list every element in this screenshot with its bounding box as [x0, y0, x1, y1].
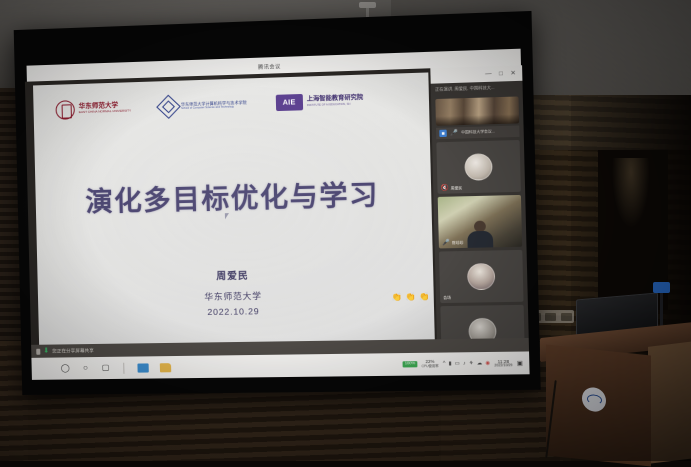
socket-outlet-icon [545, 313, 556, 321]
battery-status[interactable]: 100% [403, 361, 418, 367]
shared-screen-content: 华东师范大学 EAST CHINA NORMAL UNIVERSITY 华东师范… [25, 65, 530, 380]
participant-card[interactable]: 🎤 陈珍珍 [438, 195, 522, 249]
slide-title: 演化多目标优化与学习 [35, 171, 431, 220]
share-indicator-icon [36, 348, 40, 354]
logo-school-of-cs: 华东师范大学计算机科学与技术学院 School of Computer Scie… [159, 95, 247, 115]
emblem-arc [587, 394, 602, 406]
podium-side-panel [648, 341, 691, 464]
participant-label: 会场 [443, 296, 451, 301]
cpu-label: CPU使用率 [421, 365, 438, 369]
figure-body [467, 231, 493, 248]
volume-icon[interactable]: ♪ [463, 361, 466, 366]
logo-ecnu: 华东师范大学 EAST CHINA NORMAL UNIVERSITY [55, 98, 131, 119]
meeting-status-line: 正在演讲, 周爱民, 中国科技大... [431, 81, 523, 97]
microphone-icon [653, 282, 670, 293]
microphone-muted-icon[interactable]: 🔇 [441, 185, 449, 191]
participant-name: 中国科技大学会议... [461, 129, 495, 135]
podium-front-panel [546, 344, 651, 466]
participant-card[interactable]: 🔇 周爱民 [436, 140, 520, 194]
taskbar-app-file-explorer[interactable] [160, 363, 171, 372]
participant-row[interactable]: ■ 🎤 中国科技大学会议... [436, 125, 519, 139]
participant-video-tile-hall[interactable] [435, 96, 519, 125]
cortana-icon[interactable]: ○ [81, 364, 90, 373]
participant-webcam-figure [465, 220, 496, 248]
meeting-app-title: 腾讯会议 [258, 63, 281, 71]
ecnu-seal-icon [55, 100, 75, 120]
participant-name: 会场 [443, 296, 451, 301]
logo-aie-en: INSTITUTE OF AI EDUCATION, SH [307, 102, 364, 107]
logo-school-of-cs-en: School of Computer Science and Technolog… [181, 105, 247, 110]
system-tray: 100% 22% CPU使用率 ^ ▮ ▭ ♪ ⚘ ☁ ◉ [403, 358, 530, 369]
task-view-icon[interactable]: ▢ [101, 363, 110, 372]
mouse-cursor-icon [225, 213, 232, 219]
microphone-on-icon[interactable]: 🎤 [450, 130, 458, 136]
conference-room: 腾讯会议 华东师范大学 EAST CHINA NORMAL UNIVERSITY [0, 0, 691, 461]
search-icon[interactable]: ◯ [61, 364, 70, 373]
participant-badge-icon: ■ [439, 130, 447, 137]
aie-mark-icon: AIE [275, 94, 302, 111]
podium [540, 330, 691, 461]
clock-date: 2022/10/29 [494, 364, 512, 368]
logo-aie: AIE 上海智能教育研究院 INSTITUTE OF AI EDUCATION,… [275, 92, 363, 111]
slide-logo-row: 华东师范大学 EAST CHINA NORMAL UNIVERSITY 华东师范… [55, 86, 395, 123]
participant-name: 周爱民 [451, 185, 463, 190]
doorway-light [612, 158, 650, 228]
slide-byline: 周爱民 华东师范大学 2022.10.29 [37, 264, 434, 320]
logo-ecnu-en: EAST CHINA NORMAL UNIVERSITY [79, 109, 131, 114]
slide-affiliation: 华东师范大学 [38, 287, 434, 306]
powerpoint-slide: 华东师范大学 EAST CHINA NORMAL UNIVERSITY 华东师范… [33, 72, 435, 357]
participants-sidebar[interactable]: — □ ✕ 正在演讲, 周爱民, 中国科技大... ■ 🎤 中国科技大学会议..… [430, 65, 529, 369]
ime-icon[interactable]: ⚘ [469, 361, 474, 366]
projection-screen: 腾讯会议 华东师范大学 EAST CHINA NORMAL UNIVERSITY [14, 11, 541, 395]
taskbar-app-tencent-meeting[interactable] [137, 363, 148, 372]
slide-date: 2022.10.29 [38, 303, 434, 320]
clap-icon: 👏 [419, 292, 430, 301]
taskbar-left-group: ◯ ○ ▢ [32, 362, 172, 375]
cpu-usage-indicator[interactable]: 22% CPU使用率 [421, 360, 438, 369]
participant-name: 陈珍珍 [452, 240, 464, 245]
slide-presenter-name: 周爱民 [37, 264, 433, 286]
clap-icon: 👏 [405, 292, 416, 301]
chevron-up-icon[interactable]: ^ [443, 361, 446, 366]
socket-outlet-icon [561, 313, 572, 321]
tray-icon-group: ^ ▮ ▭ ♪ ⚘ ☁ ◉ [443, 361, 490, 367]
network-icon[interactable]: ▭ [455, 361, 460, 366]
participant-label: 🎤 陈珍珍 [442, 240, 464, 247]
start-icon[interactable] [41, 364, 50, 373]
participant-label: 🔇 周爱民 [441, 185, 463, 192]
clap-icon: 👏 [391, 292, 402, 301]
minimize-button[interactable]: — [485, 71, 492, 77]
maximize-button[interactable]: □ [499, 71, 503, 77]
avatar [464, 153, 492, 181]
reaction-emojis: 👏 👏 👏 [391, 292, 429, 302]
close-button[interactable]: ✕ [510, 70, 516, 76]
cloud-icon[interactable]: ☁ [477, 361, 482, 366]
download-arrow-icon[interactable]: ⬇ [43, 348, 49, 355]
school-of-cs-diamond-icon [156, 94, 181, 118]
usb-icon[interactable]: ▮ [449, 361, 452, 366]
clock[interactable]: 11:28 2022/10/29 [494, 358, 512, 368]
notification-icon[interactable]: ▣ [517, 359, 523, 366]
security-icon[interactable]: ◉ [485, 361, 490, 366]
participant-card[interactable]: 会场 [439, 250, 524, 303]
taskbar-separator [123, 362, 124, 373]
microphone-on-icon[interactable]: 🎤 [442, 240, 450, 246]
avatar [467, 263, 495, 290]
share-bar-text: 您正在分享屏幕共享 [52, 348, 94, 355]
university-emblem-icon [582, 386, 606, 413]
